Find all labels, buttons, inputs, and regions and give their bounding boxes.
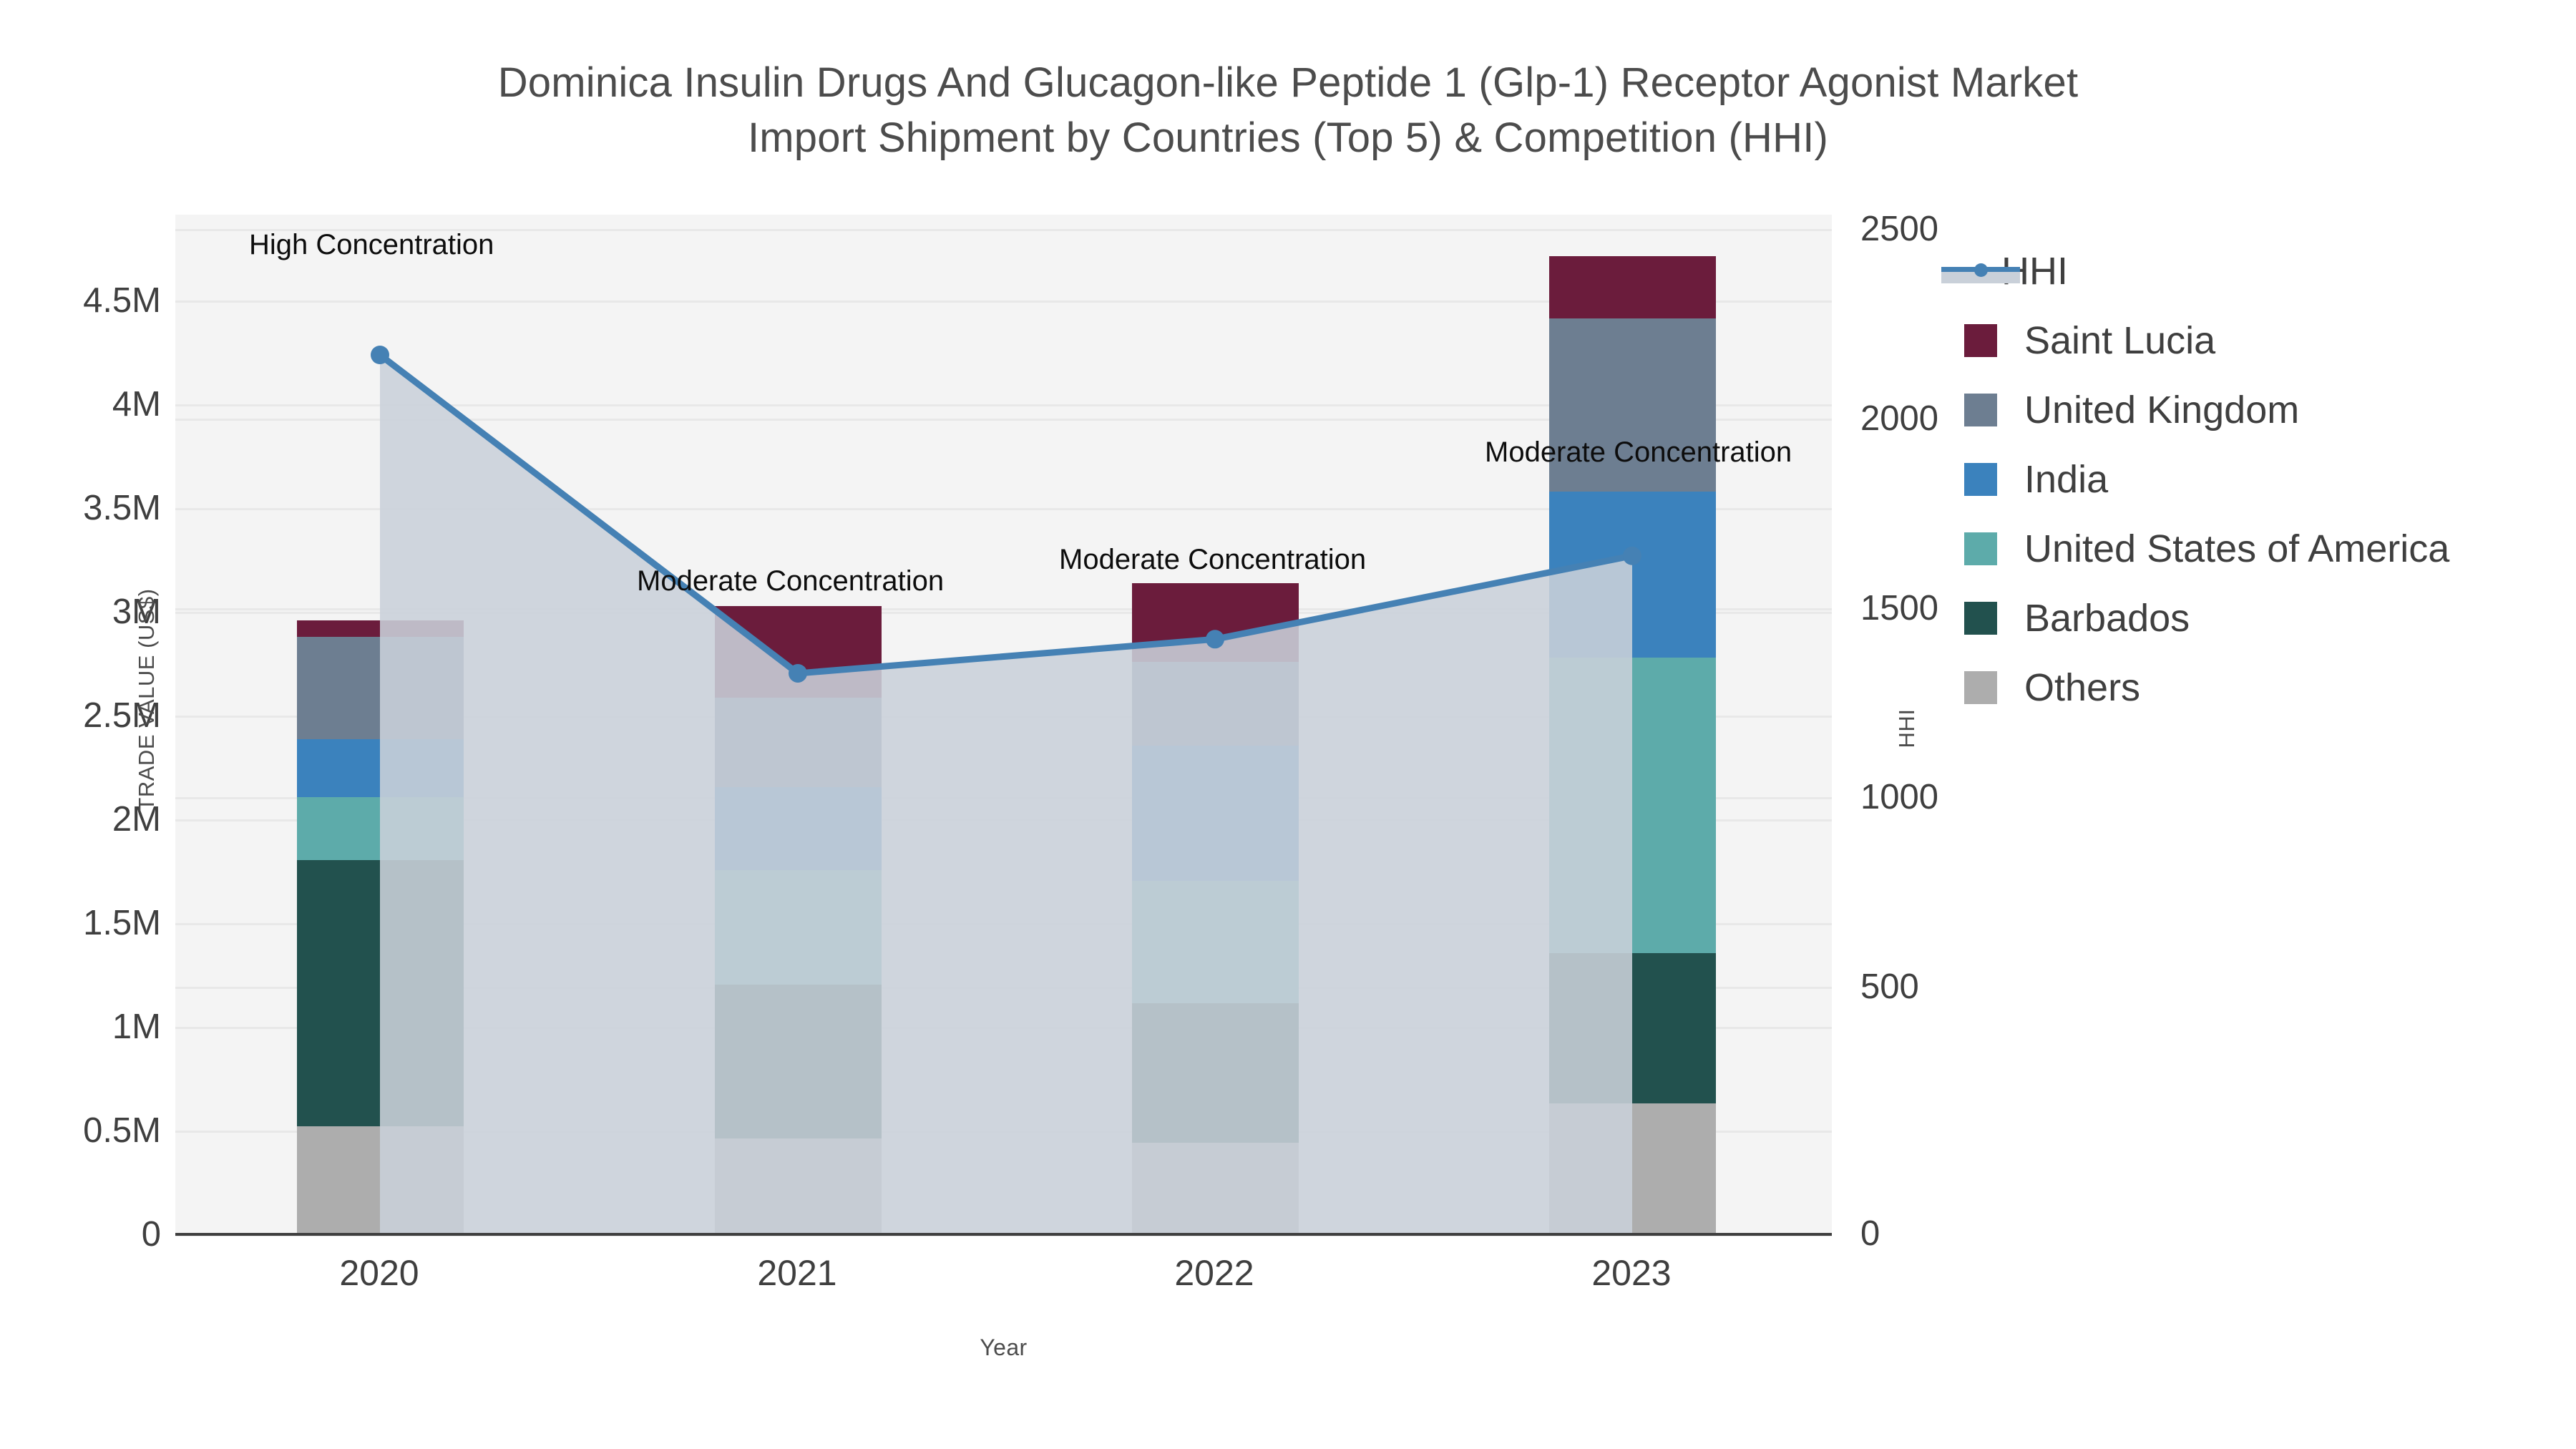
- bar-stack[interactable]: [1132, 215, 1299, 1234]
- chart-title-line1: Dominica Insulin Drugs And Glucagon-like…: [0, 56, 2576, 111]
- legend-item[interactable]: India: [1964, 444, 2449, 514]
- legend-swatch-icon: [1964, 532, 1997, 565]
- y-axis-tick-label: 4M: [25, 387, 161, 422]
- legend-item-label: Barbados: [2024, 596, 2190, 640]
- hhi-line-icon: [1941, 255, 2020, 288]
- chart-legend: HHISaint LuciaUnited KingdomIndiaUnited …: [1964, 236, 2449, 722]
- bar-segment[interactable]: [1132, 1143, 1299, 1234]
- bar-segment[interactable]: [1132, 662, 1299, 745]
- bar-segment[interactable]: [715, 1138, 882, 1234]
- bar-segment[interactable]: [1132, 583, 1299, 663]
- bar-segment[interactable]: [297, 860, 464, 1126]
- y2-axis-tick-label: 500: [1860, 970, 2025, 1005]
- y2-axis-tick-label: 1000: [1860, 780, 2025, 815]
- chart-title: Dominica Insulin Drugs And Glucagon-like…: [0, 56, 2576, 165]
- bar-segment[interactable]: [297, 637, 464, 739]
- legend-swatch-icon: [1964, 602, 1997, 635]
- bar-segment[interactable]: [1549, 256, 1716, 318]
- bar-stack[interactable]: [1549, 215, 1716, 1234]
- x-axis-line: [175, 1233, 1832, 1236]
- legend-item-label: United States of America: [2024, 527, 2449, 571]
- bar-segment[interactable]: [1549, 492, 1716, 658]
- bar-segment[interactable]: [1549, 658, 1716, 953]
- bar-stack[interactable]: [297, 215, 464, 1234]
- legend-item[interactable]: HHI: [1964, 236, 2449, 306]
- chart-canvas: Dominica Insulin Drugs And Glucagon-like…: [0, 0, 2576, 1449]
- bar-segment[interactable]: [715, 870, 882, 985]
- concentration-annotation: Moderate Concentration: [637, 565, 944, 597]
- bar-segment[interactable]: [715, 985, 882, 1138]
- bar-segment[interactable]: [715, 787, 882, 870]
- legend-swatch-icon: [1964, 394, 1997, 426]
- y-axis-tick-label: 3.5M: [25, 491, 161, 526]
- chart-title-line2: Import Shipment by Countries (Top 5) & C…: [0, 111, 2576, 166]
- y-axis-tick-label: 0: [25, 1217, 161, 1252]
- x-axis-tick-label: 2023: [1503, 1252, 1760, 1294]
- bar-segment[interactable]: [715, 606, 882, 698]
- legend-item-label: Others: [2024, 665, 2140, 710]
- legend-swatch-icon: [1964, 463, 1997, 496]
- y-axis-tick-label: 4.5M: [25, 283, 161, 318]
- bar-segment[interactable]: [1132, 746, 1299, 881]
- y2-axis-tick-label: 0: [1860, 1216, 2025, 1252]
- y-axis-tick-label: 1M: [25, 1010, 161, 1045]
- bar-segment[interactable]: [1549, 1103, 1716, 1234]
- y-axis-title: TRADE VALUE (US$): [134, 550, 160, 850]
- y-axis-tick-label: 1.5M: [25, 906, 161, 941]
- bar-segment[interactable]: [297, 1126, 464, 1234]
- legend-item[interactable]: United Kingdom: [1964, 375, 2449, 444]
- bar-segment[interactable]: [1132, 881, 1299, 1004]
- x-axis-title: Year: [175, 1335, 1832, 1361]
- legend-item[interactable]: Others: [1964, 653, 2449, 722]
- legend-swatch-icon: [1964, 324, 1997, 357]
- legend-item[interactable]: Barbados: [1964, 583, 2449, 653]
- bar-segment[interactable]: [1549, 953, 1716, 1103]
- y-axis-tick-label: 0.5M: [25, 1113, 161, 1148]
- x-axis-tick-label: 2022: [1085, 1252, 1343, 1294]
- bar-segment[interactable]: [297, 620, 464, 637]
- bar-stack[interactable]: [715, 215, 882, 1234]
- concentration-annotation: High Concentration: [249, 229, 494, 261]
- legend-item-label: United Kingdom: [2024, 388, 2299, 432]
- legend-item-label: Saint Lucia: [2024, 318, 2215, 363]
- bar-segment[interactable]: [297, 739, 464, 797]
- concentration-annotation: Moderate Concentration: [1485, 436, 1792, 469]
- legend-swatch-icon: [1964, 671, 1997, 704]
- bar-segment[interactable]: [1132, 1003, 1299, 1143]
- legend-item-label: India: [2024, 457, 2108, 502]
- legend-item[interactable]: Saint Lucia: [1964, 306, 2449, 375]
- x-axis-tick-label: 2021: [668, 1252, 926, 1294]
- legend-item[interactable]: United States of America: [1964, 514, 2449, 583]
- bar-segment[interactable]: [297, 797, 464, 859]
- bar-segment[interactable]: [715, 698, 882, 787]
- concentration-annotation: Moderate Concentration: [1059, 544, 1366, 576]
- x-axis-tick-label: 2020: [250, 1252, 508, 1294]
- y2-axis-title: HHI: [1894, 643, 1920, 814]
